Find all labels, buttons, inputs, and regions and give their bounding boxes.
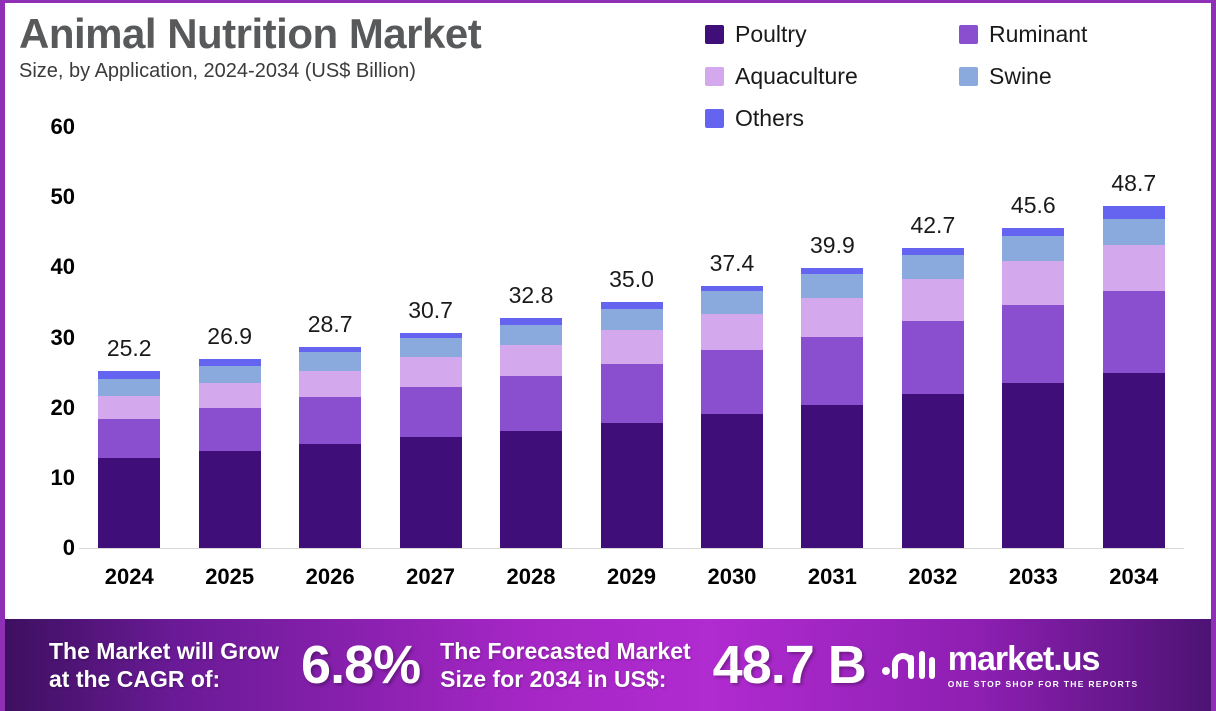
bar-segment-ruminant[interactable] [902, 321, 964, 394]
y-axis-tick-label: 0 [23, 535, 75, 561]
y-axis-tick-label: 20 [23, 395, 75, 421]
bar-segment-swine[interactable] [500, 325, 562, 345]
y-axis-tick-label: 10 [23, 465, 75, 491]
bar-segment-poultry[interactable] [601, 423, 663, 548]
bar-segment-swine[interactable] [1103, 219, 1165, 245]
bar-group[interactable]: 45.62033 [983, 3, 1083, 613]
bar-segment-poultry[interactable] [1002, 383, 1064, 548]
stacked-bar[interactable] [400, 333, 462, 548]
bar-segment-ruminant[interactable] [98, 419, 160, 458]
stacked-bar[interactable] [500, 318, 562, 548]
bar-segment-aquaculture[interactable] [98, 396, 160, 419]
bar-segment-swine[interactable] [601, 309, 663, 330]
brand-name: market.us [948, 642, 1139, 676]
stacked-bar[interactable] [98, 371, 160, 548]
market-us-logo-icon [882, 646, 938, 685]
bar-segment-ruminant[interactable] [601, 364, 663, 423]
bar-segment-poultry[interactable] [199, 451, 261, 548]
bar-segment-swine[interactable] [299, 352, 361, 370]
forecast-caption: The Forecasted Market Size for 2034 in U… [440, 637, 691, 693]
bar-segment-others[interactable] [1103, 206, 1165, 219]
bar-value-label: 32.8 [481, 282, 581, 309]
bar-group[interactable]: 42.72032 [883, 3, 983, 613]
bar-segment-aquaculture[interactable] [601, 330, 663, 364]
bar-group[interactable]: 35.02029 [582, 3, 682, 613]
x-axis-label-2025: 2025 [180, 564, 280, 591]
bar-segment-swine[interactable] [701, 291, 763, 313]
bar-segment-ruminant[interactable] [701, 350, 763, 414]
bar-group[interactable]: 48.72034 [1084, 3, 1184, 613]
forecast-block: The Forecasted Market Size for 2034 in U… [440, 634, 866, 696]
x-axis-label-2034: 2034 [1084, 564, 1184, 591]
x-axis-label-2031: 2031 [782, 564, 882, 591]
bar-segment-aquaculture[interactable] [400, 357, 462, 386]
bar-segment-ruminant[interactable] [1002, 305, 1064, 383]
x-axis-label-2029: 2029 [582, 564, 682, 591]
stacked-bar[interactable] [701, 286, 763, 548]
forecast-caption-line2: Size for 2034 in US$: [440, 665, 691, 693]
bar-segment-ruminant[interactable] [500, 376, 562, 431]
stacked-bar[interactable] [299, 347, 361, 548]
bar-segment-aquaculture[interactable] [1002, 261, 1064, 305]
bar-segment-ruminant[interactable] [801, 337, 863, 405]
bar-value-label: 45.6 [983, 192, 1083, 219]
stacked-bar[interactable] [601, 302, 663, 548]
brand-tagline: ONE STOP SHOP FOR THE REPORTS [948, 679, 1139, 689]
bar-segment-others[interactable] [98, 371, 160, 379]
brand-text: market.us ONE STOP SHOP FOR THE REPORTS [948, 642, 1139, 689]
bar-segment-poultry[interactable] [400, 437, 462, 548]
bar-segment-swine[interactable] [1002, 236, 1064, 261]
bar-segment-aquaculture[interactable] [801, 298, 863, 337]
bar-group[interactable]: 28.72026 [280, 3, 380, 613]
cagr-caption: The Market will Grow at the CAGR of: [49, 637, 279, 693]
stacked-bar[interactable] [1103, 206, 1165, 548]
bar-segment-ruminant[interactable] [400, 387, 462, 438]
bar-segment-swine[interactable] [98, 379, 160, 396]
cagr-caption-line1: The Market will Grow [49, 637, 279, 665]
stacked-bar[interactable] [902, 248, 964, 548]
y-axis-tick-label: 60 [23, 114, 75, 140]
cagr-value: 6.8% [301, 634, 420, 696]
x-axis-label-2027: 2027 [381, 564, 481, 591]
bar-group[interactable]: 37.42030 [682, 3, 782, 613]
y-axis-tick-label: 40 [23, 254, 75, 280]
x-axis-label-2033: 2033 [983, 564, 1083, 591]
bar-group[interactable]: 26.92025 [180, 3, 280, 613]
bar-value-label: 42.7 [883, 212, 983, 239]
x-axis-label-2028: 2028 [481, 564, 581, 591]
bar-segment-aquaculture[interactable] [902, 279, 964, 321]
bar-segment-poultry[interactable] [902, 394, 964, 548]
bar-segment-aquaculture[interactable] [500, 345, 562, 377]
bar-segment-swine[interactable] [902, 255, 964, 280]
bar-segment-poultry[interactable] [1103, 373, 1165, 548]
forecast-caption-line1: The Forecasted Market [440, 637, 691, 665]
bar-segment-ruminant[interactable] [1103, 291, 1165, 373]
bar-segment-swine[interactable] [199, 366, 261, 384]
bar-segment-poultry[interactable] [98, 458, 160, 548]
x-axis-label-2032: 2032 [883, 564, 983, 591]
y-axis: 0102030405060 [23, 3, 75, 613]
x-axis-label-2026: 2026 [280, 564, 380, 591]
x-axis-label-2030: 2030 [682, 564, 782, 591]
bar-group[interactable]: 39.92031 [782, 3, 882, 613]
bar-segment-poultry[interactable] [500, 431, 562, 548]
y-axis-tick-label: 30 [23, 325, 75, 351]
bar-value-label: 48.7 [1084, 170, 1184, 197]
bar-value-label: 26.9 [180, 323, 280, 350]
bar-segment-ruminant[interactable] [299, 397, 361, 444]
bar-group[interactable]: 25.22024 [79, 3, 179, 613]
bar-segment-swine[interactable] [400, 338, 462, 357]
bar-group[interactable]: 30.72027 [381, 3, 481, 613]
x-axis-label-2024: 2024 [79, 564, 179, 591]
bar-segment-aquaculture[interactable] [199, 383, 261, 408]
bar-group[interactable]: 32.82028 [481, 3, 581, 613]
footer-banner: The Market will Grow at the CAGR of: 6.8… [5, 619, 1216, 711]
bar-segment-aquaculture[interactable] [701, 314, 763, 350]
bar-segment-aquaculture[interactable] [299, 371, 361, 398]
cagr-block: The Market will Grow at the CAGR of: 6.8… [49, 634, 420, 696]
bar-value-label: 25.2 [79, 335, 179, 362]
bar-segment-ruminant[interactable] [199, 408, 261, 451]
stacked-bar[interactable] [801, 268, 863, 548]
bar-segment-aquaculture[interactable] [1103, 245, 1165, 291]
bar-segment-poultry[interactable] [299, 444, 361, 548]
bar-segment-others[interactable] [500, 318, 562, 325]
infographic-root: Animal Nutrition Market Size, by Applica… [0, 0, 1216, 711]
chart-plot-area: 0102030405060 25.2202426.9202528.7202630… [5, 3, 1216, 613]
bar-value-label: 37.4 [682, 250, 782, 277]
bar-value-label: 39.9 [782, 232, 882, 259]
bar-value-label: 28.7 [280, 311, 380, 338]
stacked-bar[interactable] [199, 359, 261, 548]
bar-series-container: 25.2202426.9202528.7202630.7202732.82028… [79, 3, 1184, 613]
bar-value-label: 30.7 [381, 297, 481, 324]
bar-value-label: 35.0 [582, 266, 682, 293]
y-axis-tick-label: 50 [23, 184, 75, 210]
bar-segment-poultry[interactable] [801, 405, 863, 548]
bar-segment-others[interactable] [1002, 228, 1064, 236]
cagr-caption-line2: at the CAGR of: [49, 665, 279, 693]
bar-segment-poultry[interactable] [701, 414, 763, 548]
bar-segment-swine[interactable] [801, 274, 863, 298]
forecast-value: 48.7 B [713, 634, 866, 696]
brand-logo[interactable]: market.us ONE STOP SHOP FOR THE REPORTS [882, 642, 1139, 689]
stacked-bar[interactable] [1002, 228, 1064, 548]
